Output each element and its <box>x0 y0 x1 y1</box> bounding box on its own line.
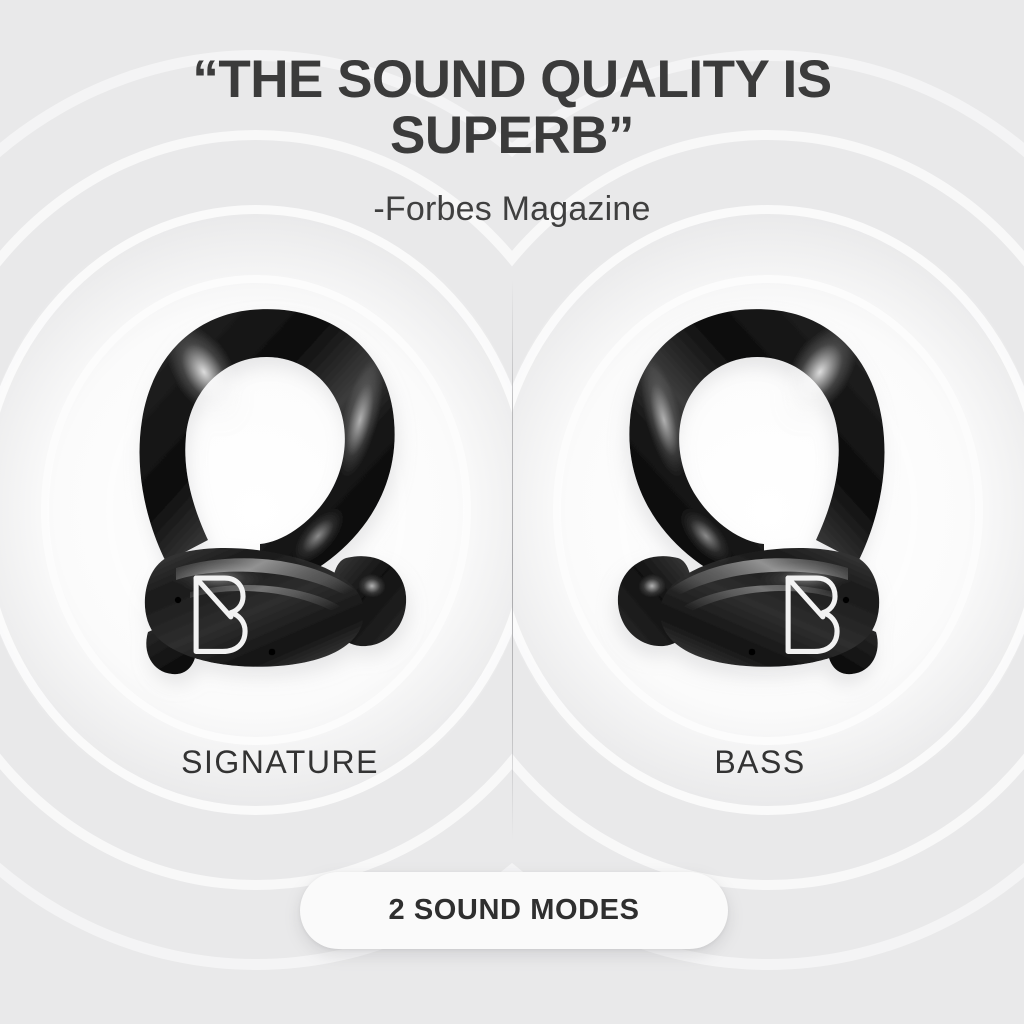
tip-highlight <box>358 574 386 598</box>
earbud-bass <box>562 300 892 700</box>
mic-hole-front <box>843 597 849 603</box>
mode-label-bass: BASS <box>600 744 920 781</box>
quote-attribution: -Forbes Magazine <box>0 190 1024 229</box>
sound-modes-badge-label: 2 SOUND MODES <box>388 894 639 927</box>
earbud-signature <box>132 300 462 700</box>
mic-hole-bottom <box>269 649 276 656</box>
sound-modes-badge[interactable]: 2 SOUND MODES <box>300 872 728 949</box>
headline-quote: “THE SOUND QUALITY IS SUPERB” <box>0 52 1024 164</box>
product-marketing-image: “THE SOUND QUALITY IS SUPERB” -Forbes Ma… <box>0 0 1024 1024</box>
center-divider <box>512 280 513 840</box>
mic-hole-front <box>175 597 181 603</box>
tip-highlight <box>638 574 666 598</box>
mic-hole-bottom <box>749 649 756 656</box>
mode-label-signature: SIGNATURE <box>120 744 440 781</box>
